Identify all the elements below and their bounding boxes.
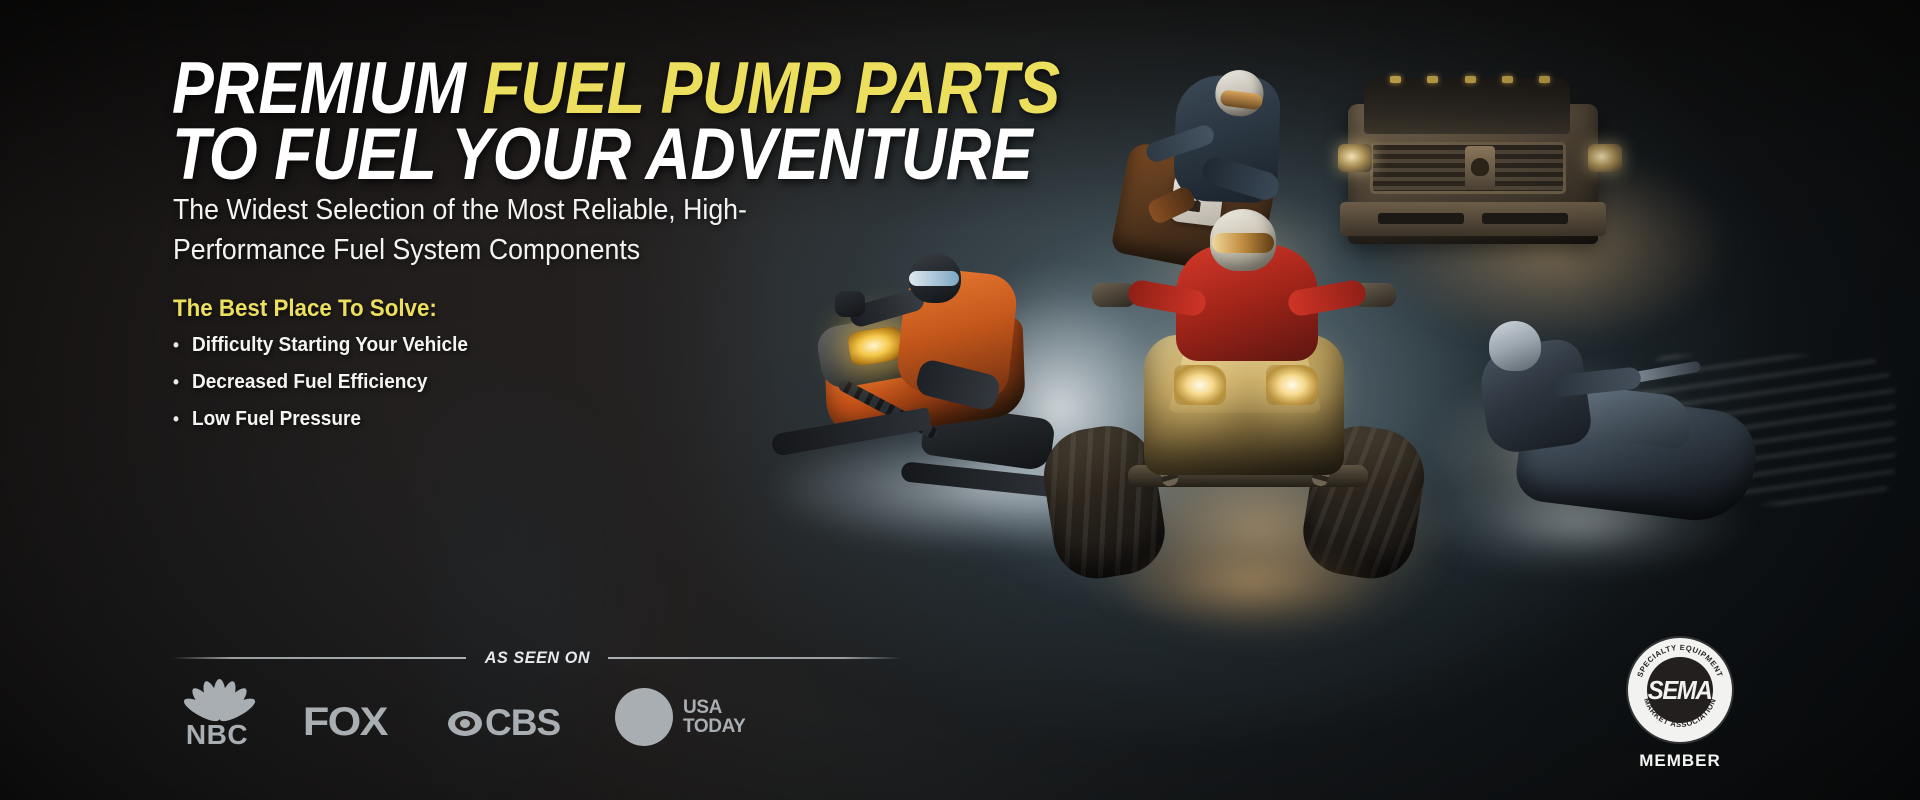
divider-left xyxy=(172,657,466,659)
headline-line-2: TO FUEL YOUR ADVENTURE xyxy=(172,122,843,188)
headline: PREMIUM FUEL PUMP PARTS TO FUEL YOUR ADV… xyxy=(172,56,952,188)
divider-right xyxy=(608,657,902,659)
hero-banner: PREMIUM FUEL PUMP PARTS TO FUEL YOUR ADV… xyxy=(0,0,1920,800)
solve-bullet-list: • Difficulty Starting Your Vehicle • Dec… xyxy=(173,327,733,438)
cbs-eye-icon xyxy=(448,711,482,736)
usa-today-wordmark: USA TODAY xyxy=(683,698,745,736)
usa-today-line-2: TODAY xyxy=(683,717,745,736)
bullet-dot-icon: • xyxy=(173,405,179,434)
sema-member-badge: SPECIALTY EQUIPMENT MARKET ASSOCIATION S… xyxy=(1600,638,1760,771)
list-item: • Difficulty Starting Your Vehicle xyxy=(173,327,705,364)
list-item: • Low Fuel Pressure xyxy=(173,401,705,438)
fox-logo-text: FOX xyxy=(303,700,387,745)
solve-title: The Best Place To Solve: xyxy=(173,295,437,323)
usa-today-circle-icon xyxy=(615,688,673,746)
nbc-logo-text: NBC xyxy=(186,719,248,751)
usa-today-logo: USA TODAY xyxy=(615,688,745,746)
as-seen-on-label: AS SEEN ON xyxy=(484,648,589,668)
list-item-label: Difficulty Starting Your Vehicle xyxy=(192,331,468,360)
sema-member-label: MEMBER xyxy=(1600,751,1760,771)
sema-monogram-text: SEMA xyxy=(1648,675,1712,706)
sema-monogram-disc: SEMA xyxy=(1647,657,1713,723)
sub-headline: The Widest Selection of the Most Reliabl… xyxy=(173,190,817,270)
nbc-logo: NBC xyxy=(182,676,252,751)
list-item: • Decreased Fuel Efficiency xyxy=(173,364,705,401)
cbs-logo-text: CBS xyxy=(485,702,560,744)
as-seen-on-section: AS SEEN ON xyxy=(172,648,902,668)
list-item-label: Low Fuel Pressure xyxy=(192,405,361,434)
cbs-logo: CBS xyxy=(448,702,560,744)
headline-line-1: PREMIUM FUEL PUMP PARTS xyxy=(172,56,843,122)
bullet-dot-icon: • xyxy=(173,331,179,360)
fox-logo: FOX xyxy=(306,700,384,745)
bullet-dot-icon: • xyxy=(173,368,179,397)
as-seen-on-row: AS SEEN ON xyxy=(172,648,902,668)
hero-content: PREMIUM FUEL PUMP PARTS TO FUEL YOUR ADV… xyxy=(0,0,960,800)
sema-seal-icon: SPECIALTY EQUIPMENT MARKET ASSOCIATION S… xyxy=(1628,638,1732,742)
list-item-label: Decreased Fuel Efficiency xyxy=(192,368,427,397)
press-logo-strip: NBC FOX CBS USA TODAY xyxy=(172,680,912,770)
peacock-icon xyxy=(182,676,252,720)
usa-today-line-1: USA xyxy=(683,698,745,717)
